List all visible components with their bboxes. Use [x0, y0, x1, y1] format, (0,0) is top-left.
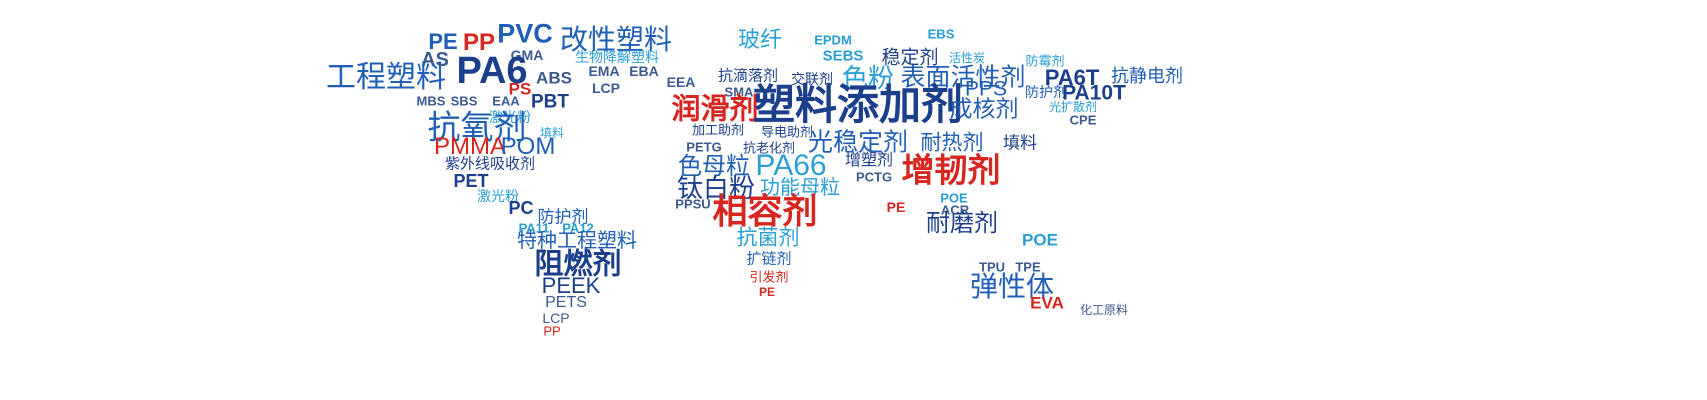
- cloud-word[interactable]: 活性炭: [949, 52, 985, 64]
- cloud-word[interactable]: 扩链剂: [746, 252, 791, 267]
- cloud-word[interactable]: 导电助剂: [761, 126, 813, 139]
- cloud-word[interactable]: SBS: [451, 95, 478, 108]
- cloud-word[interactable]: PBT: [531, 93, 569, 112]
- cloud-word[interactable]: LCP: [592, 81, 620, 95]
- cloud-word[interactable]: 引发剂: [749, 271, 788, 284]
- cloud-word[interactable]: PPSU: [675, 198, 710, 211]
- cloud-word[interactable]: 润滑剂: [671, 96, 758, 125]
- cloud-word[interactable]: 工程塑料: [326, 63, 446, 93]
- cloud-word[interactable]: 抗菌剂: [737, 228, 800, 249]
- cloud-word[interactable]: EVA: [1030, 295, 1064, 312]
- cloud-word[interactable]: 化工原料: [1080, 304, 1128, 316]
- cloud-word[interactable]: PC: [508, 199, 533, 217]
- cloud-word[interactable]: PVC: [497, 21, 553, 48]
- cloud-word[interactable]: 耐热剂: [921, 133, 984, 154]
- word-cloud-canvas: PEPPPVCGMA改性塑料玻纤EPDMEBSASPA6生物降解塑料SEBS稳定…: [0, 0, 1707, 400]
- cloud-word[interactable]: 填料: [1003, 135, 1037, 152]
- cloud-word[interactable]: 防护剂: [1025, 85, 1067, 99]
- cloud-word[interactable]: PP: [543, 325, 560, 338]
- cloud-word[interactable]: PETS: [545, 295, 587, 311]
- cloud-word[interactable]: PETG: [686, 141, 721, 154]
- cloud-word[interactable]: 增韧剂: [902, 154, 1001, 187]
- cloud-word[interactable]: EBS: [928, 28, 955, 41]
- cloud-word[interactable]: 生物降解塑料: [575, 50, 659, 64]
- cloud-word[interactable]: PCTG: [856, 171, 892, 184]
- cloud-word[interactable]: 相容剂: [712, 195, 817, 230]
- cloud-word[interactable]: PE: [759, 286, 775, 298]
- cloud-word[interactable]: ABS: [536, 70, 572, 87]
- cloud-word[interactable]: 玻纤: [738, 29, 782, 51]
- cloud-word[interactable]: 光扩散剂: [1049, 101, 1097, 113]
- cloud-word[interactable]: CPE: [1070, 114, 1097, 127]
- cloud-word[interactable]: EEA: [667, 75, 696, 89]
- cloud-word[interactable]: MBS: [417, 95, 446, 108]
- cloud-word[interactable]: EMA: [588, 64, 619, 78]
- cloud-word[interactable]: 塑料添加剂: [753, 84, 963, 126]
- cloud-word[interactable]: 耐磨剂: [926, 212, 998, 236]
- cloud-word[interactable]: POE: [1022, 232, 1058, 249]
- cloud-word[interactable]: 紫外线吸收剂: [445, 157, 535, 172]
- cloud-word[interactable]: EBA: [629, 64, 659, 78]
- cloud-word[interactable]: EPDM: [814, 34, 852, 47]
- cloud-word[interactable]: SEBS: [823, 49, 864, 64]
- cloud-word[interactable]: 成核剂: [950, 98, 1019, 121]
- cloud-word[interactable]: PPS: [965, 79, 1007, 100]
- cloud-word[interactable]: PS: [509, 81, 532, 98]
- cloud-word[interactable]: PE: [887, 200, 906, 214]
- cloud-word[interactable]: 加工助剂: [692, 124, 744, 137]
- cloud-word[interactable]: 增塑剂: [845, 153, 893, 169]
